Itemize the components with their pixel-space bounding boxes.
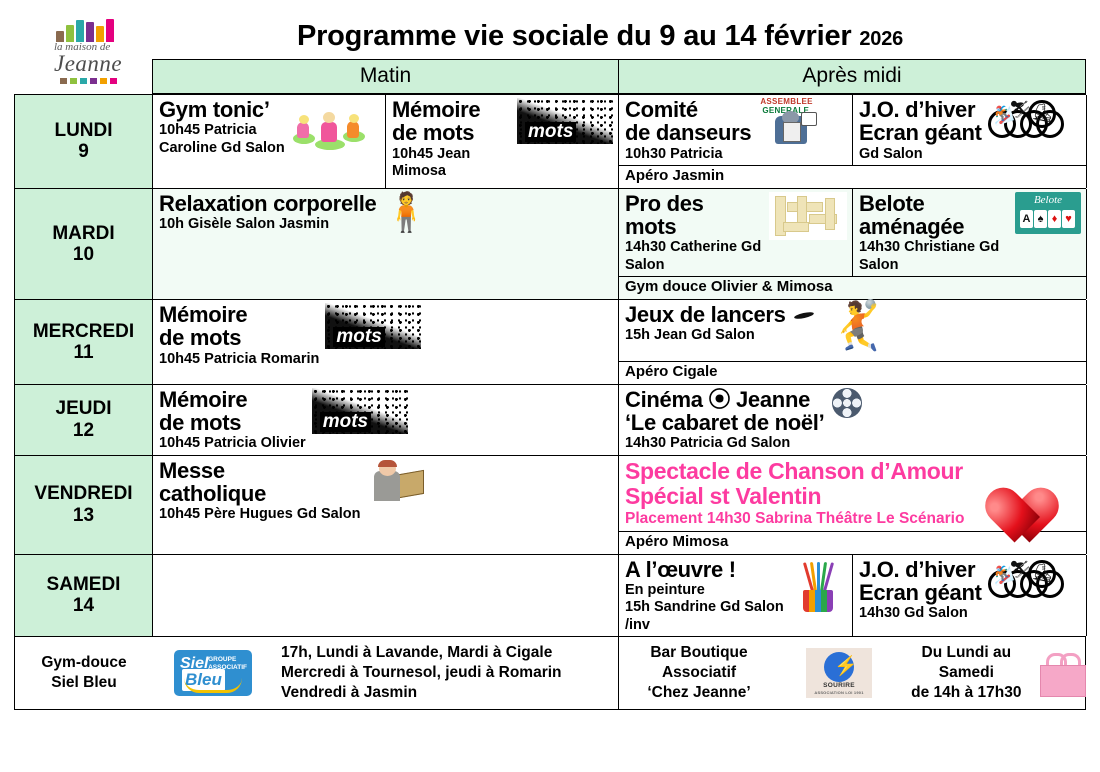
activity-slot[interactable]: A l’œuvre !En peinture15h Sandrine Gd Sa… [619, 555, 852, 636]
activity-slot[interactable]: Mémoirede mots10h45 Jean Mimosamots [385, 95, 618, 188]
sourire-line3: ASSOCIATION LOI 1901 [806, 690, 872, 695]
day-row: MARDI10Relaxation corporelle10h Gisèle S… [14, 188, 1086, 299]
activity-title: J.O. d’hiverEcran géant [859, 98, 982, 145]
activity-title: Jeux de lancers [625, 303, 786, 326]
activity-details: 10h45 Patricia Olivier [159, 435, 306, 452]
morning-cell: Mémoirede mots10h45 Patricia Romarinmots [153, 300, 619, 384]
activity-slot[interactable]: Jeux de lancers15h Jean Gd Salon🤾 [619, 300, 1086, 361]
activity-details: Gd Salon [859, 146, 982, 163]
gym-kids-icon [291, 98, 367, 150]
activity-title: Mémoirede mots [159, 388, 306, 435]
activity-slot[interactable]: Comitéde danseurs10h30 PatriciaASSEMBLEE… [619, 95, 852, 165]
grid-header-row: Matin Après midi [152, 59, 1086, 94]
siel-bleu-icon: Siel Bleu GROUPEASSOCIATIF [174, 650, 252, 696]
activity-title: Mémoirede mots [159, 303, 319, 350]
footer-row: Gym-douceSiel Bleu Siel Bleu GROUPEASSOC… [14, 637, 1086, 709]
day-name: SAMEDI [47, 574, 121, 595]
day-row: MERCREDI11Mémoirede mots10h45 Patricia R… [14, 299, 1086, 384]
logo-bars-icon [56, 18, 142, 42]
activity-title: Gym tonic’ [159, 98, 285, 121]
activity-details: 14h30 Christiane Gd Salon [859, 239, 1009, 274]
discus-thrower-icon: 🤾 [792, 303, 902, 359]
footer-gym-schedule: 17h, Lundi à Lavande, Mardi à CigaleMerc… [273, 637, 619, 708]
activity-details: 14h30 Patricia Gd Salon [625, 435, 824, 452]
day-label-lundi: LUNDI9 [15, 95, 153, 188]
activity-details: 10h45 Jean Mimosa [392, 146, 511, 181]
day-name: MERCREDI [33, 321, 134, 342]
activity-title: Pro desmots [625, 192, 763, 239]
footer-gym-label: Gym-douceSiel Bleu [15, 637, 153, 708]
activity-slot[interactable]: J.O. d’hiverEcran géantGd Salon🏂⛷⛸ [852, 95, 1086, 165]
gift-icon [1036, 649, 1077, 697]
activity-details: En peinture15h Sandrine Gd Salon /inv [625, 582, 785, 634]
siel-bleu-tag: GROUPEASSOCIATIF [208, 656, 247, 672]
morning-cell [153, 555, 619, 636]
day-number: 10 [73, 244, 94, 265]
day-number: 12 [73, 420, 94, 441]
page-title: Programme vie sociale du 9 au 14 février… [150, 20, 1050, 53]
sourire-intense-logo-cell: ⚡ SOURIRE ASSOCIATION LOI 1901 [779, 637, 899, 708]
activity-slot[interactable]: Cinéma ⦿ Jeanne‘Le cabaret de noël’14h30… [619, 385, 1086, 455]
siel-bleu-smile-icon [184, 678, 242, 693]
programme-poster: la maison de Jeanne Programme vie social… [0, 0, 1100, 772]
day-label-jeudi: JEUDI12 [15, 385, 153, 455]
belote-cards-icon: BeloteA♠♦♥ [1015, 192, 1081, 234]
activity-title: Beloteaménagée [859, 192, 1009, 239]
morning-cell: Gym tonic’10h45 PatriciaCaroline Gd Salo… [153, 95, 619, 188]
activity-details: 14h30 Catherine Gd Salon [625, 239, 763, 274]
title-main: Programme vie sociale du 9 au 14 février [297, 20, 852, 52]
siel-bleu-logo-cell: Siel Bleu GROUPEASSOCIATIF [153, 637, 273, 708]
afternoon-cell: Spectacle de Chanson d’AmourSpécial st V… [619, 456, 1087, 554]
morning-cell: Mémoirede mots10h45 Patricia Oliviermots [153, 385, 619, 455]
footer-bar-hours: Du Lundi au Samedide 14h à 17h30 [899, 637, 1085, 708]
day-name: VENDREDI [34, 483, 132, 504]
afternoon-cell: Cinéma ⦿ Jeanne‘Le cabaret de noël’14h30… [619, 385, 1087, 455]
activity-title: A l’œuvre ! [625, 558, 785, 581]
afternoon-note: Apéro Cigale [619, 361, 1086, 384]
priest-icon [366, 459, 428, 503]
activity-title: Mémoirede mots [392, 98, 511, 145]
activity-slot[interactable]: J.O. d’hiverEcran géant14h30 Gd Salon🏂⛷⛸ [852, 555, 1086, 636]
day-row: LUNDI9Gym tonic’10h45 PatriciaCaroline G… [14, 94, 1086, 188]
day-label-vendredi: VENDREDI13 [15, 456, 153, 554]
activity-details: 10h30 Patricia [625, 146, 751, 163]
olympic-rings-icon: 🏂⛷⛸ [988, 98, 1062, 140]
activity-details: 10h45 PatriciaCaroline Gd Salon [159, 122, 285, 157]
sourire-bolt-icon: ⚡ [834, 657, 858, 676]
activity-slot[interactable]: Beloteaménagée14h30 Christiane Gd SalonB… [852, 189, 1086, 276]
afternoon-cell: Jeux de lancers15h Jean Gd Salon🤾Apéro C… [619, 300, 1087, 384]
heart-icon [970, 459, 1042, 515]
mots-icon: mots [517, 98, 613, 144]
header-morning: Matin [152, 59, 618, 94]
activity-slot[interactable]: Mémoirede mots10h45 Patricia Romarinmots [153, 300, 618, 384]
crossword-icon [769, 192, 847, 240]
day-name: JEUDI [56, 398, 112, 419]
day-number: 11 [73, 342, 93, 363]
afternoon-cell: Comitéde danseurs10h30 PatriciaASSEMBLEE… [619, 95, 1087, 188]
stretch-person-icon: 🧍 [382, 192, 424, 236]
day-number: 13 [73, 505, 94, 526]
activity-slot[interactable] [153, 555, 618, 636]
activity-title: J.O. d’hiverEcran géant [859, 558, 982, 605]
header-afternoon: Après midi [618, 59, 1086, 94]
schedule-grid: Matin Après midi LUNDI9Gym tonic’10h45 P… [14, 59, 1086, 710]
sourire-intense-icon: ⚡ SOURIRE ASSOCIATION LOI 1901 [806, 648, 872, 698]
activity-title: Messecatholique [159, 459, 360, 506]
afternoon-note: Apéro Jasmin [619, 165, 1086, 188]
activity-slot[interactable]: Mémoirede mots10h45 Patricia Oliviermots [153, 385, 618, 455]
activity-title: Spectacle de Chanson d’AmourSpécial st V… [625, 459, 964, 510]
paint-brushes-icon [791, 558, 847, 612]
day-label-mardi: MARDI10 [15, 189, 153, 299]
day-label-mercredi: MERCREDI11 [15, 300, 153, 384]
day-row: JEUDI12Mémoirede mots10h45 Patricia Oliv… [14, 384, 1086, 455]
day-row: VENDREDI13Messecatholique10h45 Père Hugu… [14, 455, 1086, 554]
activity-details: 10h45 Patricia Romarin [159, 351, 319, 368]
day-row: SAMEDI14A l’œuvre !En peinture15h Sandri… [14, 554, 1086, 637]
activity-title: Comitéde danseurs [625, 98, 751, 145]
day-number: 9 [78, 141, 89, 162]
activity-title: Relaxation corporelle [159, 192, 376, 215]
morning-cell: Relaxation corporelle10h Gisèle Salon Ja… [153, 189, 619, 299]
mots-icon: mots [325, 303, 421, 349]
activity-slot[interactable]: Pro desmots14h30 Catherine Gd Salon [619, 189, 852, 276]
assemblee-generale-icon: ASSEMBLEEGENERALE [757, 98, 831, 146]
afternoon-cell: Pro desmots14h30 Catherine Gd SalonBelot… [619, 189, 1087, 299]
activity-details: 10h45 Père Hugues Gd Salon [159, 506, 360, 523]
day-number: 14 [73, 595, 94, 616]
film-reel-icon [832, 388, 862, 418]
day-label-samedi: SAMEDI14 [15, 555, 153, 636]
activity-title: Cinéma ⦿ Jeanne‘Le cabaret de noël’ [625, 388, 824, 435]
activity-details: 14h30 Gd Salon [859, 605, 982, 622]
activity-details: 15h Jean Gd Salon [625, 327, 786, 344]
afternoon-note: Gym douce Olivier & Mimosa [619, 276, 1086, 299]
afternoon-cell: A l’œuvre !En peinture15h Sandrine Gd Sa… [619, 555, 1087, 636]
footer-bar-label: Bar BoutiqueAssociatif‘Chez Jeanne’ [619, 637, 779, 708]
day-name: LUNDI [54, 120, 112, 141]
activity-slot[interactable]: Spectacle de Chanson d’AmourSpécial st V… [619, 456, 1086, 531]
activity-slot[interactable]: Messecatholique10h45 Père Hugues Gd Salo… [153, 456, 618, 554]
activity-slot[interactable]: Gym tonic’10h45 PatriciaCaroline Gd Salo… [153, 95, 385, 188]
title-year: 2026 [859, 28, 903, 50]
activity-slot[interactable]: Relaxation corporelle10h Gisèle Salon Ja… [153, 189, 618, 299]
day-name: MARDI [52, 223, 114, 244]
olympic-rings-icon: 🏂⛷⛸ [988, 558, 1062, 600]
activity-details: Placement 14h30 Sabrina Théâtre Le Scéna… [625, 510, 964, 529]
morning-cell: Messecatholique10h45 Père Hugues Gd Salo… [153, 456, 619, 554]
mots-icon: mots [312, 388, 408, 434]
activity-details: 10h Gisèle Salon Jasmin [159, 216, 376, 233]
